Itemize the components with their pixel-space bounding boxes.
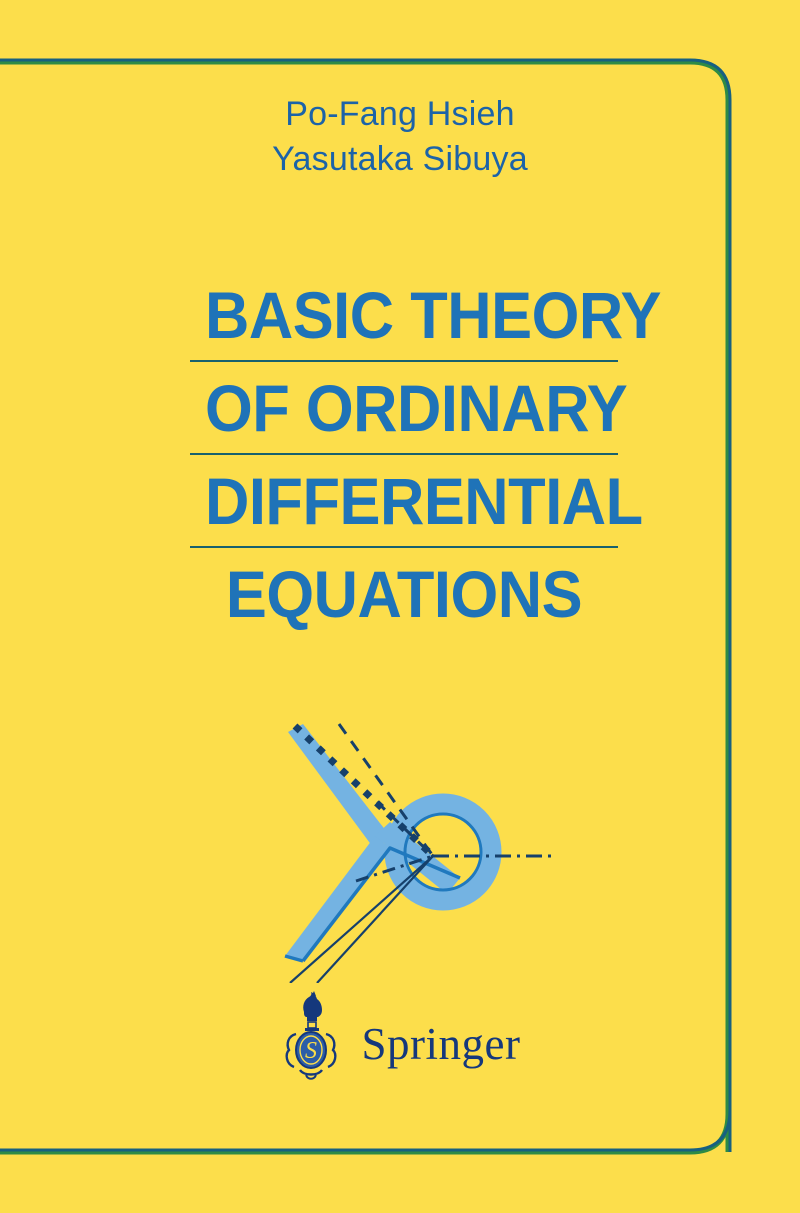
title-line-1: BASIC THEORY xyxy=(205,278,603,352)
title-rule-1 xyxy=(190,360,618,362)
y-band xyxy=(285,724,460,961)
springer-monogram: S xyxy=(305,1038,317,1064)
publisher-logo: S Springer xyxy=(0,988,800,1084)
book-cover: Po-Fang Hsieh Yasutaka Sibuya BASIC THEO… xyxy=(0,0,800,1213)
book-title: BASIC THEORY OF ORDINARY DIFFERENTIAL EQ… xyxy=(190,278,618,631)
springer-knight-crest: S xyxy=(280,988,342,1084)
title-line-4: EQUATIONS xyxy=(205,557,603,631)
title-rule-2 xyxy=(190,453,618,455)
springer-wordmark: Springer xyxy=(362,1006,521,1067)
title-line-2: OF ORDINARY xyxy=(205,371,603,445)
authors-block: Po-Fang Hsieh Yasutaka Sibuya xyxy=(0,92,800,182)
title-rule-3 xyxy=(190,546,618,548)
author-name-1: Po-Fang Hsieh xyxy=(0,92,800,137)
title-line-3: DIFFERENTIAL xyxy=(205,464,603,538)
author-name-2: Yasutaka Sibuya xyxy=(0,137,800,182)
turning-point-diagram xyxy=(255,718,565,983)
